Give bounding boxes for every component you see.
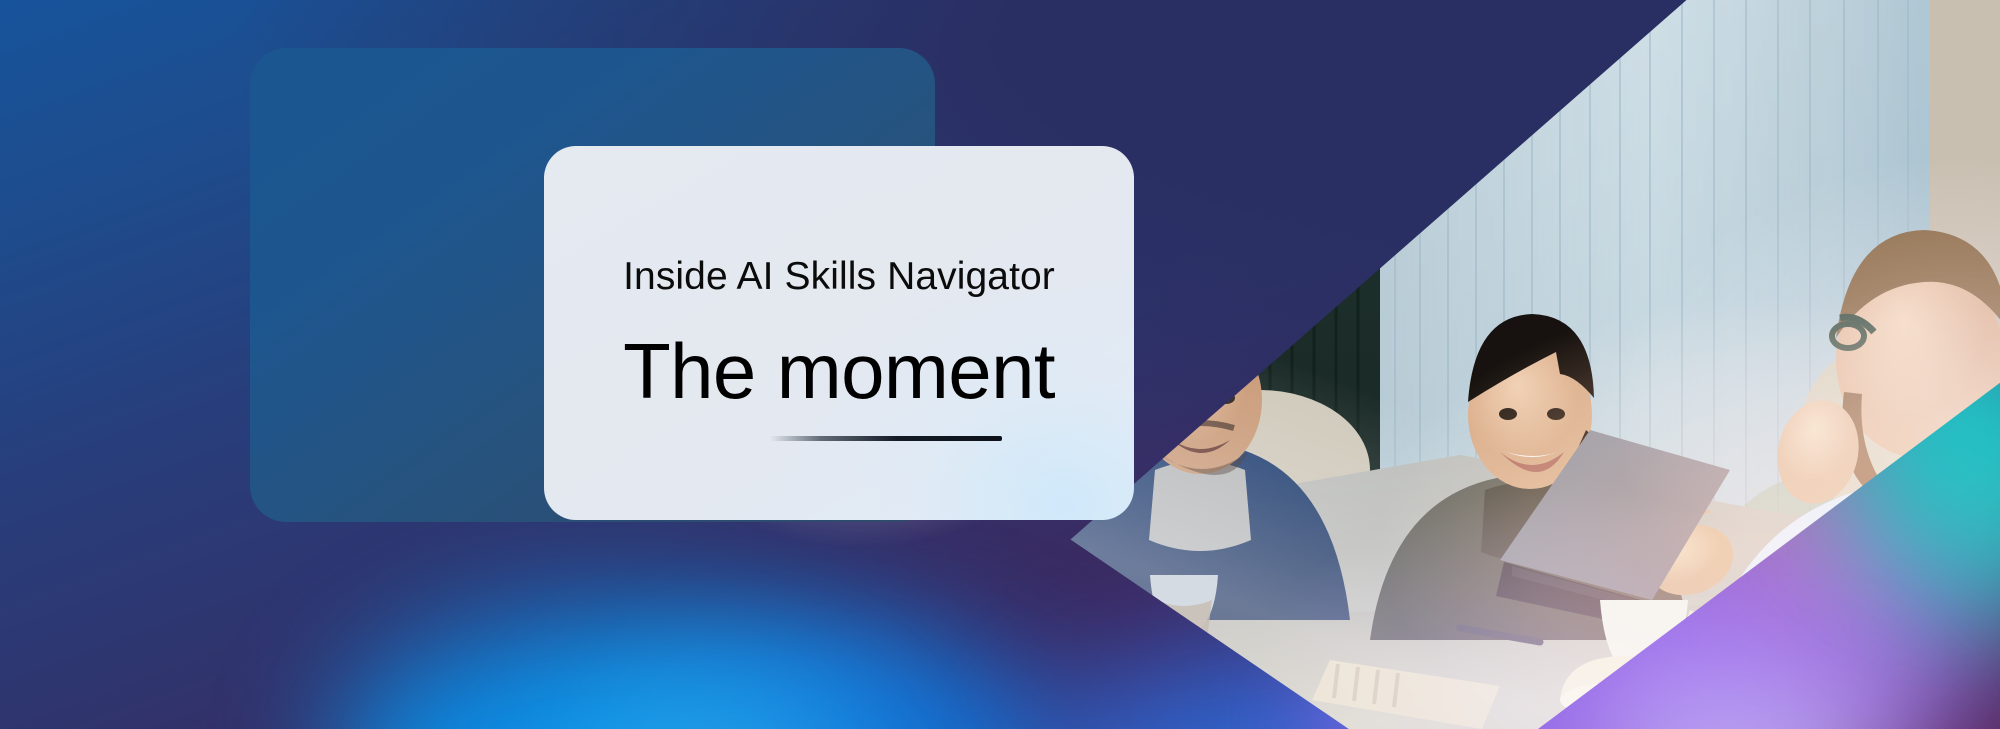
hero-card-inner: Inside AI Skills Navigator The moment xyxy=(544,146,1134,520)
banner-root: Inside AI Skills Navigator The moment xyxy=(0,0,2000,729)
hero-card-content: Inside AI Skills Navigator The moment xyxy=(544,146,1134,520)
headline-text: The moment xyxy=(623,332,1055,410)
headline-underline xyxy=(770,436,1002,441)
hero-card-outer: Inside AI Skills Navigator The moment xyxy=(250,48,935,522)
headline-wrap: The moment xyxy=(623,332,1055,410)
eyebrow-text: Inside AI Skills Navigator xyxy=(623,256,1055,299)
